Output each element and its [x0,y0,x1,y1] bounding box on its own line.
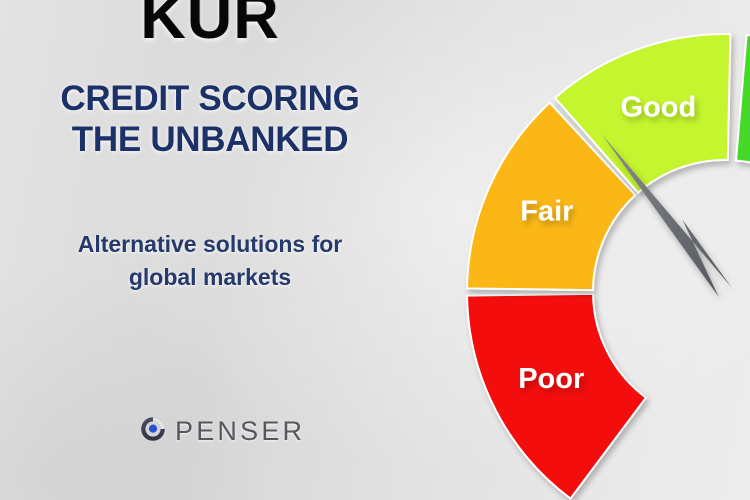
gauge-segment-poor[interactable] [467,294,646,499]
gauge-segment-group [467,34,750,499]
penser-logo: PENSER [140,416,305,447]
gauge-label-poor: Poor [518,363,584,395]
penser-wordmark: PENSER [175,416,305,447]
page-subtitle: Alternative solutions for global markets [0,228,420,293]
brand-title: KUR [0,0,420,50]
page-subtitle-line-1: Alternative solutions for [0,228,420,261]
penser-circle-icon [140,416,166,447]
title-panel: KUR CREDIT SCORING THE UNBANKED Alternat… [0,0,430,500]
gauge-segment-excellent[interactable] [736,35,750,177]
page-title-line-2: THE UNBANKED [0,119,420,160]
page-title-line-1: CREDIT SCORING [0,78,420,119]
page-title: CREDIT SCORING THE UNBANKED [0,78,420,161]
poster-canvas: KUR CREDIT SCORING THE UNBANKED Alternat… [0,0,750,500]
page-subtitle-line-2: global markets [0,261,420,294]
gauge-label-fair: Fair [520,195,573,227]
credit-score-gauge: PoorFairGood [400,0,750,500]
gauge-label-good: Good [620,91,696,123]
